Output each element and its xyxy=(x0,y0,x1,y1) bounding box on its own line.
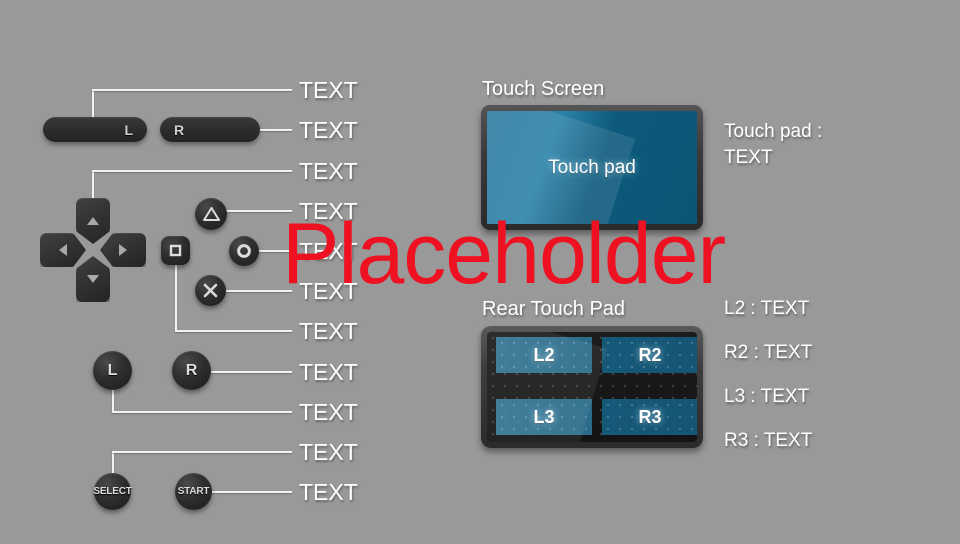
callout-line-3 xyxy=(92,170,292,172)
rear-quadrant-r2-label: R2 xyxy=(638,345,661,366)
rear-touch-pad-title: Rear Touch Pad xyxy=(482,299,625,319)
dpad-left-icon xyxy=(59,244,67,256)
select-button[interactable]: SELECT xyxy=(94,473,131,510)
callout-label-9: TEXT xyxy=(299,401,358,424)
analog-stick-r[interactable]: R xyxy=(172,351,211,390)
shoulder-button-l[interactable]: L xyxy=(43,117,147,142)
callout-line-7-vertical xyxy=(175,265,177,331)
shoulder-button-r-label: R xyxy=(174,122,184,138)
analog-stick-l-label: L xyxy=(108,362,118,380)
touch-pad-note-line1: Touch pad : xyxy=(724,122,822,141)
rear-touch-pad[interactable]: L2 R2 L3 R3 xyxy=(481,326,703,448)
callout-line-9-vertical xyxy=(112,389,114,412)
face-button-triangle[interactable] xyxy=(195,198,227,230)
callout-line-7 xyxy=(175,330,292,332)
rear-touch-pad-surface[interactable]: L2 R2 L3 R3 xyxy=(487,332,697,442)
dpad-up-icon xyxy=(87,217,99,225)
rear-quadrant-r3[interactable]: R3 xyxy=(602,399,697,435)
dpad-down-icon xyxy=(87,275,99,283)
rear-quadrant-r2[interactable]: R2 xyxy=(602,337,697,373)
dpad-up-button[interactable] xyxy=(76,198,110,244)
callout-label-3: TEXT xyxy=(299,160,358,183)
rear-quadrant-l3-label: L3 xyxy=(533,407,554,428)
face-button-square[interactable] xyxy=(161,236,190,265)
rear-quadrant-l2[interactable]: L2 xyxy=(496,337,592,373)
callout-label-2: TEXT xyxy=(299,119,358,142)
rear-note-r3: R3 : TEXT xyxy=(724,431,812,450)
rear-note-l2: L2 : TEXT xyxy=(724,299,809,318)
dpad[interactable] xyxy=(40,198,146,302)
touch-screen-title: Touch Screen xyxy=(482,79,604,99)
rear-note-l3: L3 : TEXT xyxy=(724,387,809,406)
callout-label-11: TEXT xyxy=(299,481,358,504)
dpad-right-button[interactable] xyxy=(100,233,146,267)
square-icon xyxy=(168,243,183,258)
shoulder-button-l-label: L xyxy=(124,122,133,138)
callout-label-8: TEXT xyxy=(299,361,358,384)
placeholder-watermark: Placeholder xyxy=(282,211,725,297)
face-button-circle[interactable] xyxy=(229,236,259,266)
start-button[interactable]: START xyxy=(175,473,212,510)
analog-stick-r-label: R xyxy=(186,362,198,380)
controller-mapping-screen: L R xyxy=(0,0,960,544)
callout-line-9 xyxy=(112,411,292,413)
dpad-left-button[interactable] xyxy=(40,233,86,267)
shoulder-button-r[interactable]: R xyxy=(160,117,260,142)
callout-line-10-vertical xyxy=(112,451,114,475)
face-button-cross[interactable] xyxy=(195,275,226,306)
touch-screen-label: Touch pad xyxy=(487,157,697,179)
analog-stick-l[interactable]: L xyxy=(93,351,132,390)
dpad-down-button[interactable] xyxy=(76,256,110,302)
callout-label-1: TEXT xyxy=(299,79,358,102)
cross-icon xyxy=(202,282,219,299)
callout-line-10 xyxy=(112,451,292,453)
callout-label-7: TEXT xyxy=(299,320,358,343)
triangle-icon xyxy=(203,206,220,222)
callout-line-8 xyxy=(211,371,292,373)
start-button-label: START xyxy=(178,486,210,497)
callout-label-10: TEXT xyxy=(299,441,358,464)
rear-quadrant-l3[interactable]: L3 xyxy=(496,399,592,435)
circle-icon xyxy=(236,243,252,259)
rear-quadrant-l2-label: L2 xyxy=(533,345,554,366)
rear-note-r2: R2 : TEXT xyxy=(724,343,812,362)
callout-line-1 xyxy=(92,89,292,91)
select-button-label: SELECT xyxy=(93,486,131,497)
dpad-right-icon xyxy=(119,244,127,256)
rear-quadrant-r3-label: R3 xyxy=(638,407,661,428)
touch-pad-note-line2: TEXT xyxy=(724,148,773,167)
callout-line-11 xyxy=(212,491,292,493)
